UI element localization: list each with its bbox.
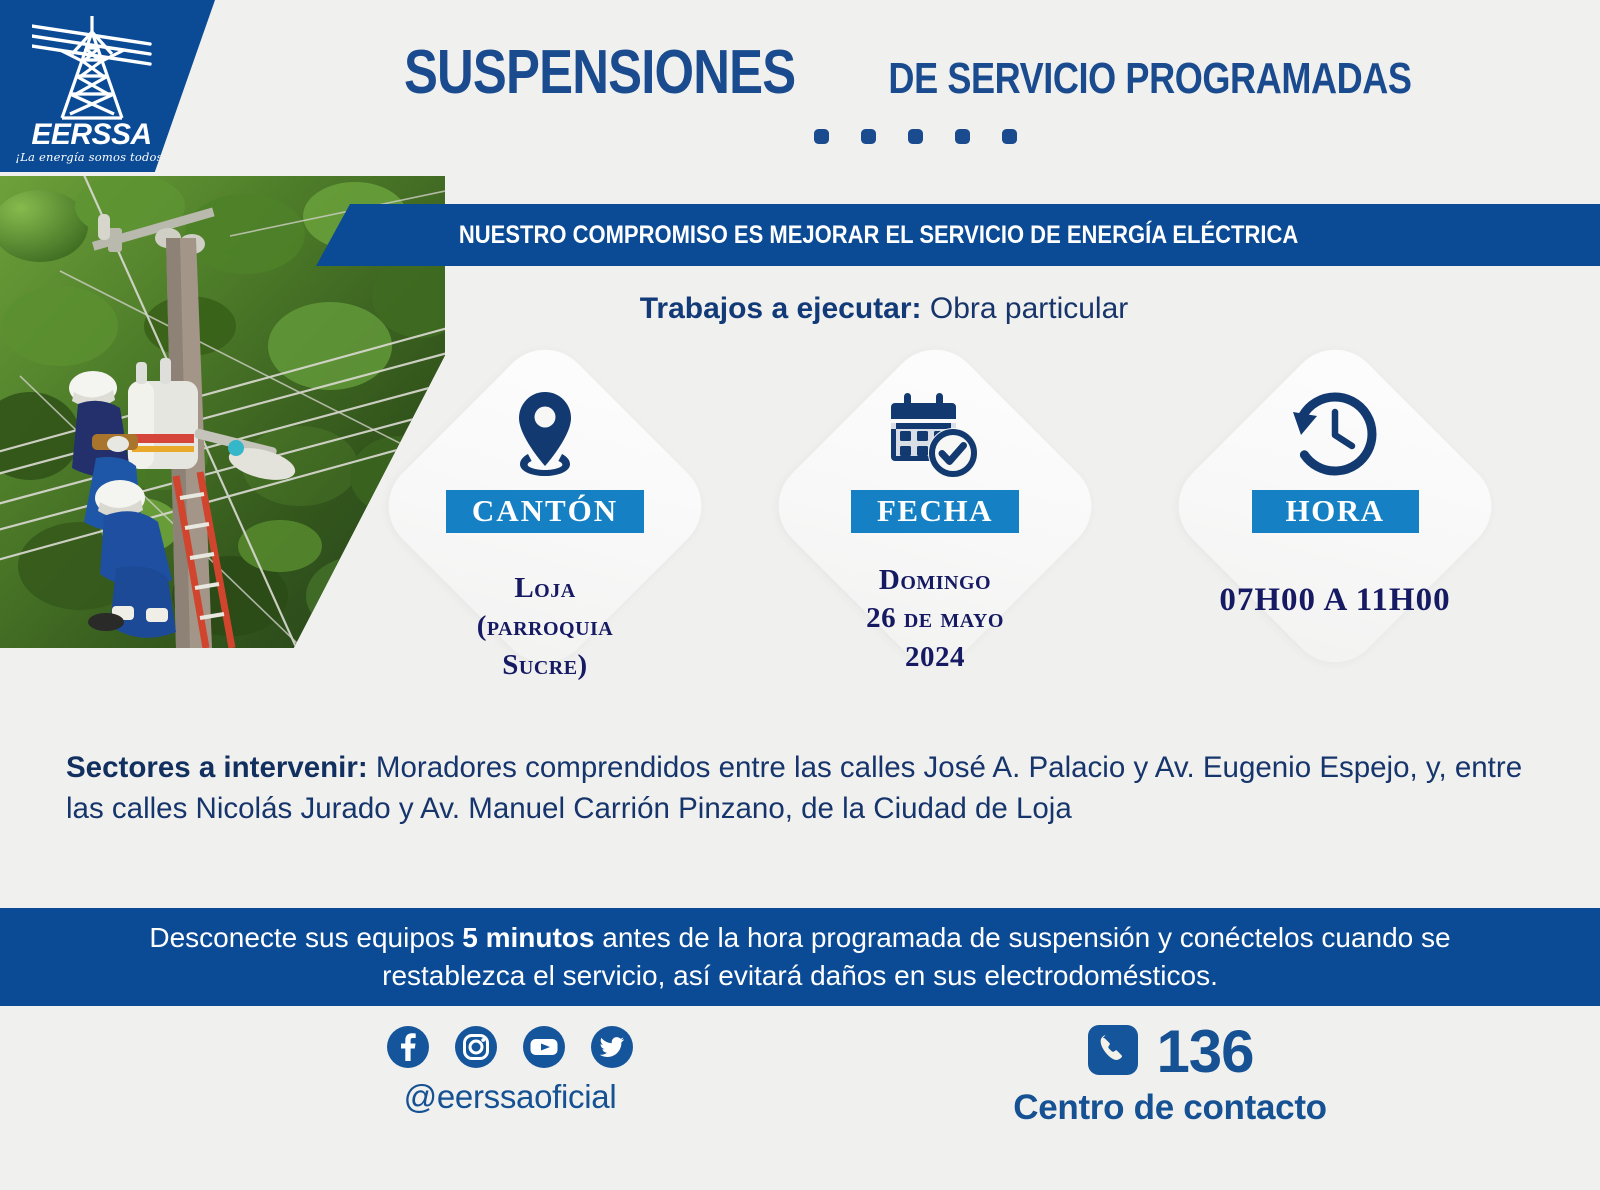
notice-banner: Desconecte sus equipos 5 minutos antes d… [0,908,1600,1006]
instagram-icon[interactable] [453,1024,499,1070]
notice-part1: Desconecte sus equipos [149,922,462,953]
dot [814,129,829,144]
poster: EERSSA ¡La energía somos todos! SUSPENSI… [0,0,1600,1190]
dot [955,129,970,144]
logo-tagline: ¡La energía somos todos! [14,150,169,164]
card-badge-hora: HORA [1252,490,1419,533]
card-badge-fecha: FECHA [851,490,1019,533]
page-title-strong: SUSPENSIONES [404,42,795,104]
card-badge-canton: CANTÓN [446,490,644,533]
works-label: Trabajos a ejecutar: [640,292,922,325]
works-value: Obra particular [930,292,1128,325]
contact-number[interactable]: 136 [1156,1022,1253,1082]
clock-history-icon [1289,386,1381,482]
info-cards: CANTÓN Loja (parroquia Sucre) [380,360,1540,710]
youtube-icon[interactable] [521,1024,567,1070]
dot [908,129,923,144]
card-hora: HORA 07H00 A 11H00 [1170,360,1500,710]
location-pin-icon [506,386,584,482]
card-canton: CANTÓN Loja (parroquia Sucre) [380,360,710,710]
notice-text: Desconecte sus equipos 5 minutos antes d… [90,919,1510,994]
commitment-banner: NUESTRO COMPROMISO ES MEJORAR EL SERVICI… [298,204,1600,266]
eerssa-logo: EERSSA ¡La energía somos todos! [0,0,215,172]
phone-icon [1086,1023,1140,1082]
dot [861,129,876,144]
card-fecha: FECHA Domingo 26 de mayo 2024 [770,360,1100,710]
twitter-icon[interactable] [589,1024,635,1070]
social-block: @eerssaoficial [300,1024,720,1116]
contact-label: Centro de contacto [930,1088,1410,1128]
sectors-label: Sectores a intervenir: [66,751,368,784]
page-title: SUSPENSIONESDE SERVICIO PROGRAMADAS [250,42,1580,104]
title-dots-decoration [250,128,1580,146]
card-value-canton: Loja (parroquia Sucre) [477,569,614,684]
works-line: Trabajos a ejecutar: Obra particular [298,292,1600,326]
calendar-check-icon [889,386,981,482]
dot [1002,129,1017,144]
sectors-paragraph: Sectores a intervenir: Moradores compren… [66,748,1546,829]
footer: @eerssaoficial 136 Centro de contacto [0,1006,1600,1190]
contact-block: 136 Centro de contacto [930,1022,1410,1128]
card-value-fecha: Domingo 26 de mayo 2024 [866,561,1004,676]
notice-highlight: 5 minutos [462,922,594,953]
transmission-tower-icon [32,10,152,128]
page-title-light: DE SERVICIO PROGRAMADAS [888,57,1411,101]
commitment-text: NUESTRO COMPROMISO ES MEJORAR EL SERVICI… [376,204,1522,266]
social-handle[interactable]: @eerssaoficial [300,1078,720,1116]
card-value-hora: 07H00 A 11H00 [1219,579,1450,623]
facebook-icon[interactable] [385,1024,431,1070]
logo-wordmark: EERSSA [14,120,169,150]
